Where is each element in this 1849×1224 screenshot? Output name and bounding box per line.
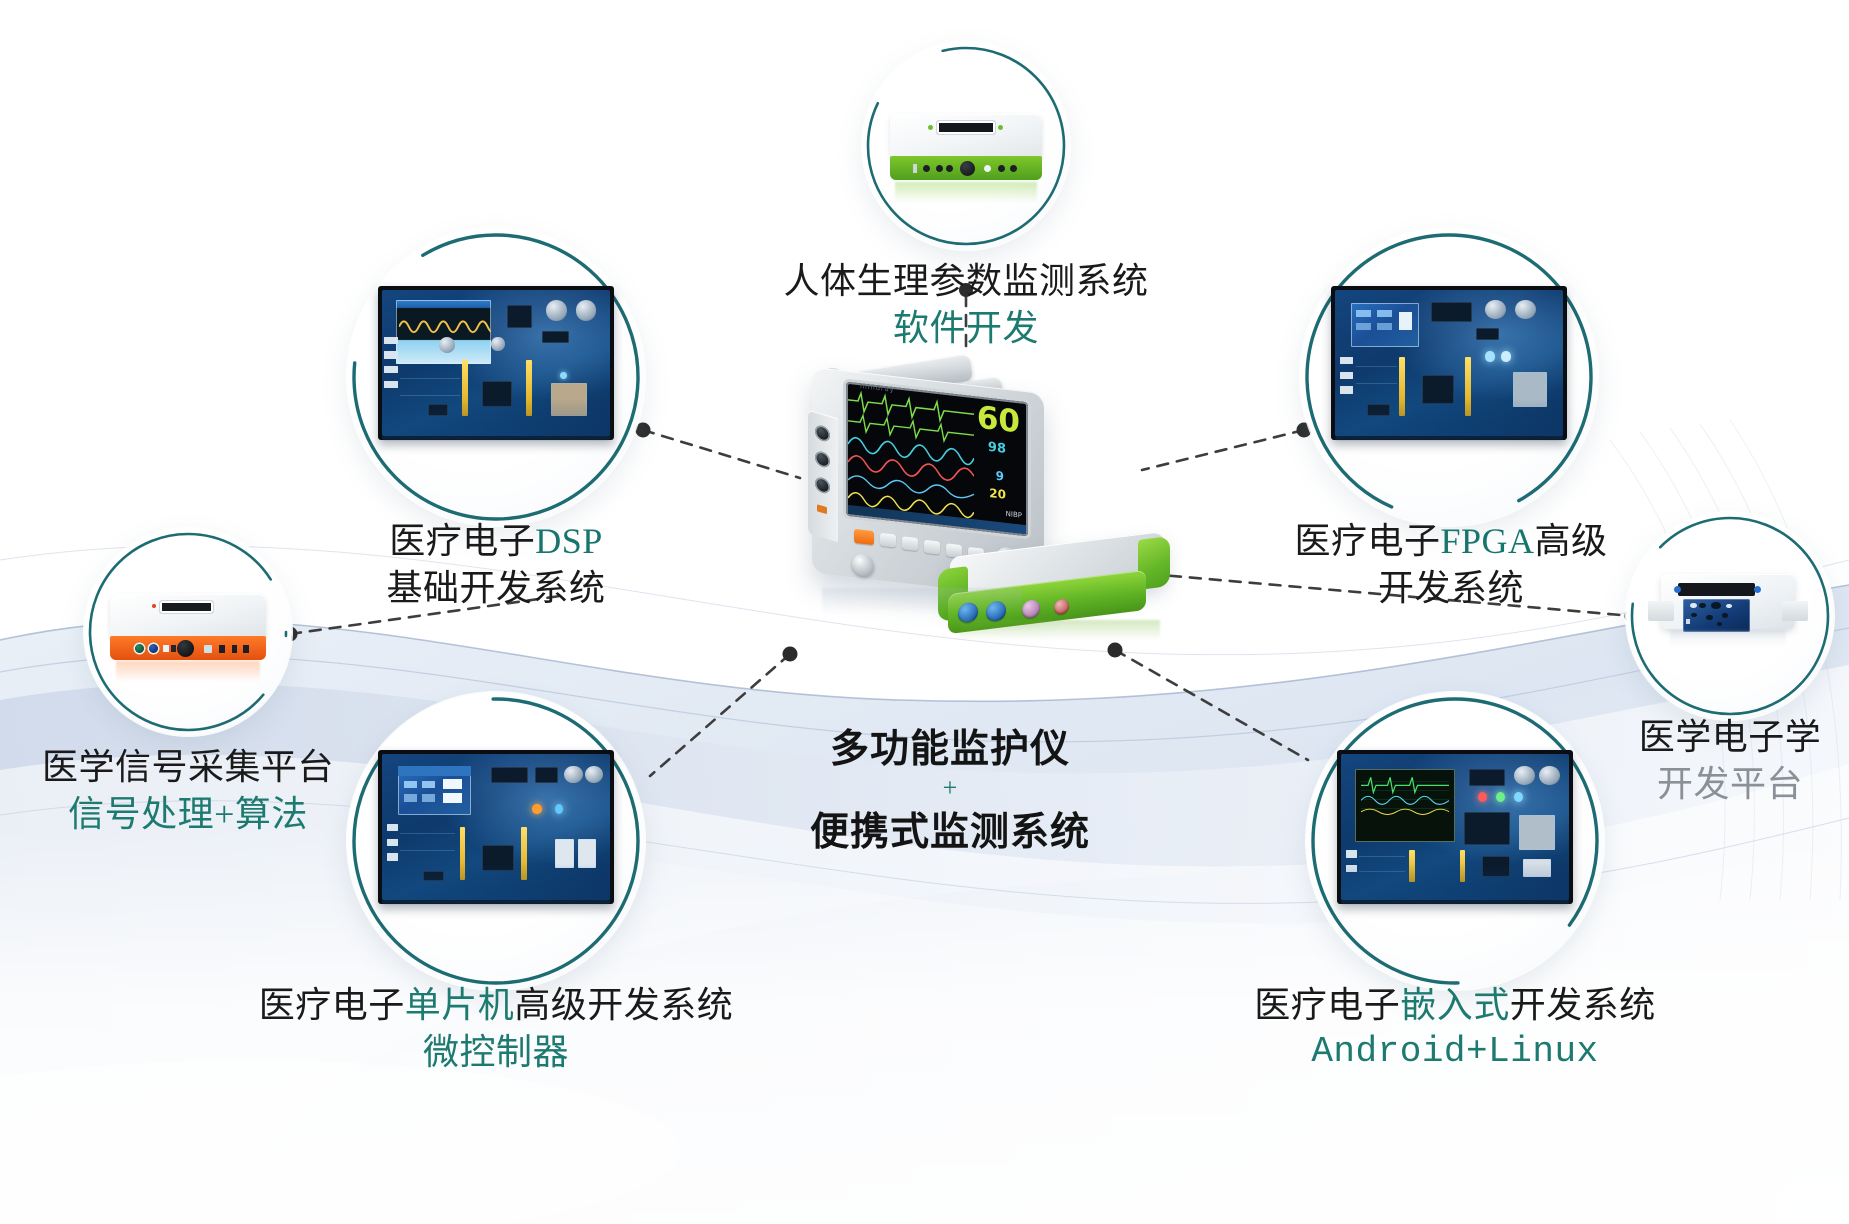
monitor-button-3[interactable] bbox=[902, 536, 918, 551]
label-line1: 医学信号采集平台 bbox=[16, 744, 360, 791]
label-line2: 基础开发系统 bbox=[261, 565, 731, 612]
white-green-acquisition-box bbox=[890, 114, 1042, 186]
label-line1-plain-a: 医疗电子 bbox=[1294, 521, 1440, 561]
ring-mcu bbox=[347, 692, 645, 990]
label-line2: 信号处理+算法 bbox=[16, 791, 360, 838]
fpga-development-board bbox=[1331, 286, 1567, 440]
center-label-line2: 便携式监测系统 bbox=[780, 801, 1120, 857]
diagram-canvas: 人体生理参数监测系统 软件开发 bbox=[0, 0, 1849, 1224]
label-line1-plain-b: 高级 bbox=[1535, 521, 1608, 561]
orange-signal-acquisition-box bbox=[110, 594, 266, 666]
label-line2: 开发平台 bbox=[1588, 761, 1849, 808]
ring-embedded bbox=[1306, 692, 1604, 990]
label-medical-dsp: 医疗电子DSP 基础开发系统 bbox=[261, 518, 731, 612]
green-device-jack-purple[interactable] bbox=[1022, 599, 1040, 619]
label-medical-electronics-platform: 医学电子学 开发平台 bbox=[1588, 714, 1849, 808]
ring-fpga bbox=[1300, 228, 1598, 526]
monitor-port-indicator bbox=[817, 504, 827, 514]
ring-top bbox=[862, 42, 1070, 250]
label-physiological-monitoring-software: 人体生理参数监测系统 软件开发 bbox=[658, 258, 1274, 352]
ring-platform bbox=[1626, 512, 1834, 720]
label-line1-plain-a: 医疗电子 bbox=[1254, 985, 1400, 1025]
monitor-value-4: 20 bbox=[989, 488, 1006, 501]
monitor-resp-value: 9 bbox=[996, 471, 1004, 483]
embedded-development-board bbox=[1337, 750, 1573, 904]
monitor-alarm-button[interactable] bbox=[854, 529, 874, 545]
center-label-line1: 多功能监护仪 bbox=[780, 718, 1120, 774]
monitor-side-panel bbox=[808, 410, 838, 543]
label-line2: 开发系统 bbox=[1216, 565, 1686, 612]
monitor-reflection bbox=[822, 588, 1022, 626]
ring-signal bbox=[84, 528, 292, 736]
label-line1-plain-b: 开发系统 bbox=[1510, 985, 1656, 1025]
green-device-jack-red[interactable] bbox=[1054, 598, 1069, 615]
monitor-spo2-value: 98 bbox=[988, 442, 1006, 456]
ring-dsp bbox=[347, 228, 645, 526]
label-line1: 医疗电子FPGA高级 bbox=[1216, 518, 1686, 565]
mcu-development-board bbox=[378, 750, 614, 904]
monitor-waveforms bbox=[848, 386, 974, 524]
label-medical-fpga: 医疗电子FPGA高级 开发系统 bbox=[1216, 518, 1686, 612]
monitor-screen: 60 98 9 20 NIBP bbox=[846, 382, 1028, 537]
label-medical-mcu: 医疗电子单片机高级开发系统 微控制器 bbox=[221, 982, 771, 1076]
label-line2: Android+Linux bbox=[1230, 1029, 1680, 1076]
label-line1-accent: 嵌入式 bbox=[1400, 985, 1510, 1025]
label-line1: 医疗电子嵌入式开发系统 bbox=[1230, 982, 1680, 1029]
label-line1-plain-b: 高级开发系统 bbox=[514, 985, 733, 1025]
label-line1-accent: DSP bbox=[535, 521, 603, 561]
label-medical-signal-acquisition: 医学信号采集平台 信号处理+算法 bbox=[16, 744, 360, 838]
monitor-port-1[interactable] bbox=[815, 424, 830, 443]
label-line1-accent: FPGA bbox=[1440, 521, 1534, 561]
monitor-port-3[interactable] bbox=[815, 476, 830, 495]
label-line1: 人体生理参数监测系统 bbox=[658, 258, 1274, 305]
label-line1-accent: 单片机 bbox=[405, 985, 515, 1025]
label-line1-plain-a: 医疗电子 bbox=[259, 985, 405, 1025]
label-line2: 微控制器 bbox=[221, 1029, 771, 1076]
center-label-multi-parameter-monitor: 多功能监护仪 + 便携式监测系统 bbox=[780, 718, 1120, 857]
label-line2: 软件开发 bbox=[658, 305, 1274, 352]
label-line1: 医疗电子DSP bbox=[261, 518, 731, 565]
monitor-button-2[interactable] bbox=[880, 533, 896, 548]
white-blue-module-box bbox=[1648, 574, 1808, 652]
monitor-heart-rate-value: 60 bbox=[977, 405, 1020, 436]
multi-parameter-patient-monitor[interactable]: 60 98 9 20 NIBP mindray bbox=[808, 366, 1198, 666]
monitor-nibp-label: NIBP bbox=[1006, 510, 1022, 520]
center-label-plus: + bbox=[780, 774, 1120, 801]
label-medical-embedded: 医疗电子嵌入式开发系统 Android+Linux bbox=[1230, 982, 1680, 1076]
label-line1: 医疗电子单片机高级开发系统 bbox=[221, 982, 771, 1029]
dsp-development-board bbox=[378, 286, 614, 440]
label-line1: 医学电子学 bbox=[1588, 714, 1849, 761]
label-line1-plain: 医疗电子 bbox=[389, 521, 535, 561]
monitor-port-2[interactable] bbox=[815, 450, 830, 469]
